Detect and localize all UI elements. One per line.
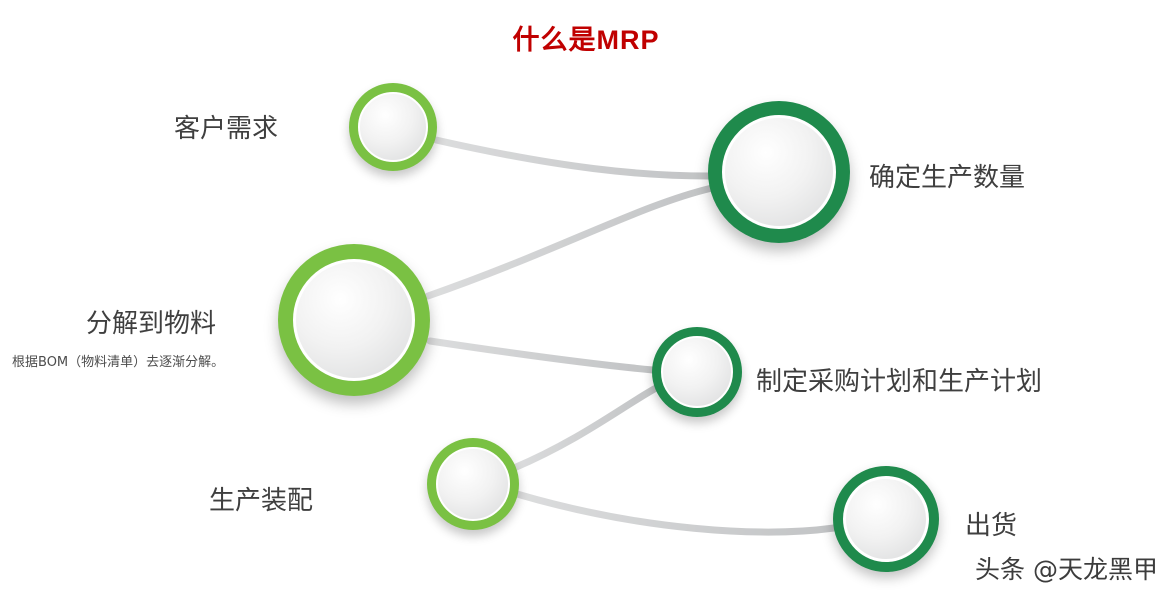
edge-assembly-to-purchase-plan — [514, 388, 656, 468]
node-purchase-production-plan-core — [661, 336, 733, 408]
node-customer-demand-core — [358, 92, 428, 162]
label-customer-demand: 客户需求 — [174, 108, 278, 145]
label-production-qty: 确定生产数量 — [869, 157, 1025, 194]
label-explode-to-material: 分解到物料 — [86, 303, 216, 340]
edge-explode-to-production-qty — [428, 188, 712, 296]
diagram-canvas: 什么是MRP 客户需求 确定生产数量 分解到物料 根据BOM（物料清单）去逐渐分… — [0, 0, 1172, 594]
node-production-qty[interactable] — [708, 101, 850, 243]
edge-explode-to-purchase-plan — [430, 341, 653, 370]
node-explode-to-material[interactable] — [278, 244, 430, 396]
node-explode-to-material-core — [293, 259, 415, 381]
node-production-qty-core — [722, 115, 836, 229]
label-shipment: 出货 — [965, 505, 1017, 542]
watermark: 头条 @天龙黑甲 — [975, 550, 1158, 586]
label-explode-to-material-note: 根据BOM（物料清单）去逐渐分解。 — [12, 351, 224, 370]
node-purchase-production-plan[interactable] — [652, 327, 742, 417]
node-shipment-core — [843, 476, 929, 562]
node-shipment[interactable] — [833, 466, 939, 572]
node-production-assembly[interactable] — [427, 438, 519, 530]
label-purchase-production-plan: 制定采购计划和生产计划 — [756, 361, 1042, 398]
node-production-assembly-core — [436, 447, 510, 521]
label-production-assembly: 生产装配 — [209, 480, 313, 517]
edge-customer-demand-to-production-qty — [436, 140, 709, 176]
edge-assembly-to-shipment — [517, 494, 834, 532]
node-customer-demand[interactable] — [349, 83, 437, 171]
